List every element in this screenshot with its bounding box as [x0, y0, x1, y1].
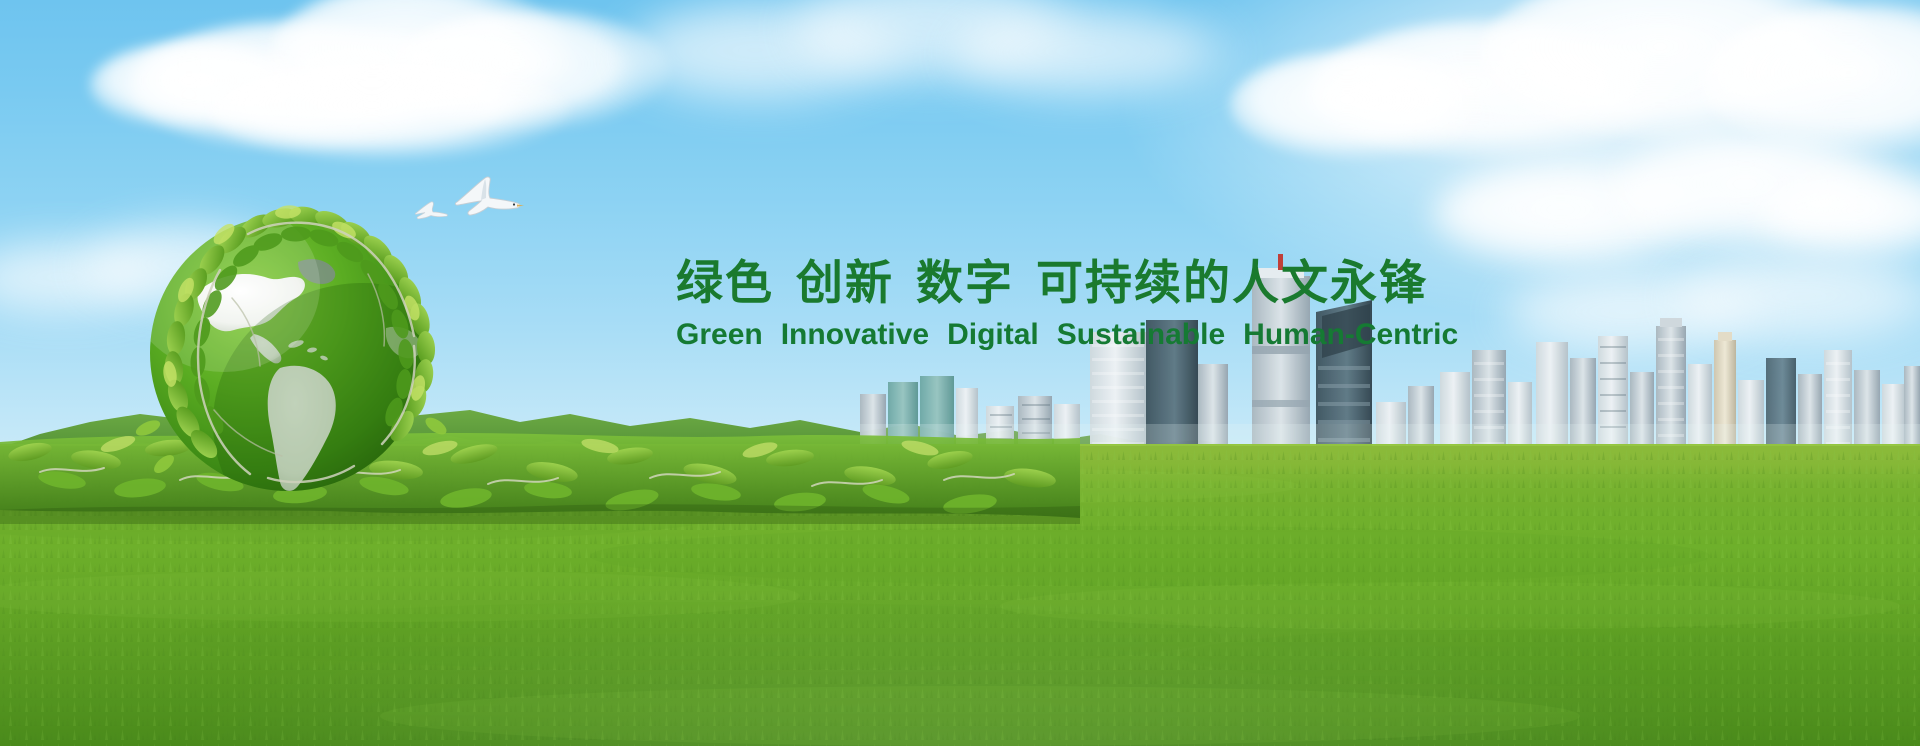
headline-english: GreenInnovativeDigitalSustainableHuman-C…: [676, 317, 1576, 353]
eco-banner: 绿色创新数字可持续的人文永锋 GreenInnovativeDigitalSus…: [0, 0, 1920, 746]
headline-cn-word-4: 可持续的人文永锋: [1036, 256, 1428, 311]
headline-cn-word-3: 数字: [916, 256, 1014, 311]
headline-cn-word-1: 绿色: [676, 256, 774, 311]
headline-en-word-1: Green: [676, 318, 763, 351]
headline-en-word-5: Human-Centric: [1243, 318, 1458, 351]
headline-chinese: 绿色创新数字可持续的人文永锋: [676, 258, 1576, 311]
headline-cn-word-2: 创新: [796, 256, 894, 311]
headline-en-word-2: Innovative: [781, 318, 929, 351]
green-earth-globe: [128, 178, 468, 508]
headline-block: 绿色创新数字可持续的人文永锋 GreenInnovativeDigitalSus…: [676, 258, 1576, 353]
headline-en-word-3: Digital: [947, 318, 1039, 351]
headline-en-word-4: Sustainable: [1057, 318, 1225, 351]
